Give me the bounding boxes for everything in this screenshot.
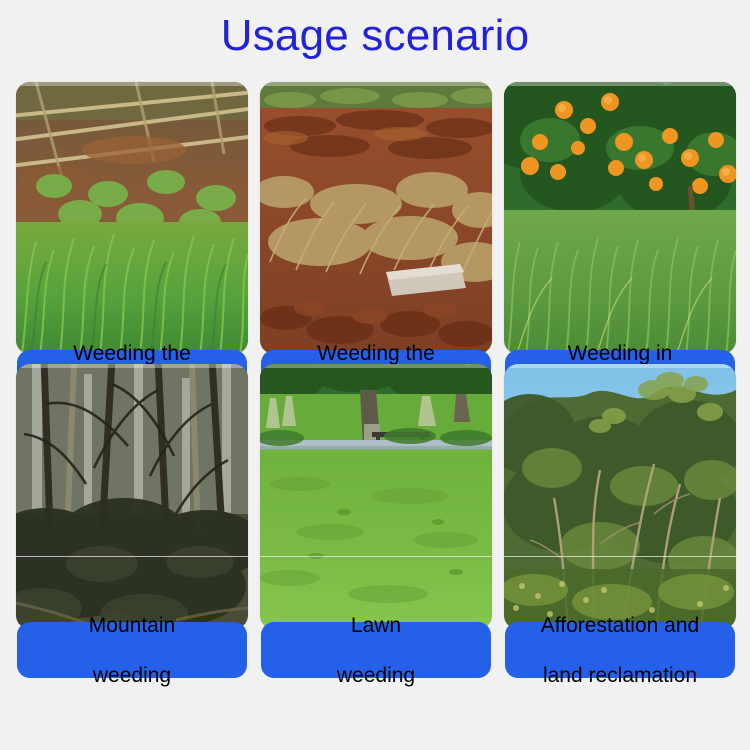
caption-line-1: Weeding the xyxy=(265,341,487,366)
photo-weeding-vegetable-garden xyxy=(16,82,248,354)
caption-line-2: land reclamation xyxy=(509,663,731,688)
scenario-cell-weeding-wasteland[interactable]: Weeding the wasteland xyxy=(260,82,492,354)
photo-weeding-orchard xyxy=(504,82,736,354)
scenario-row-top: Weeding the vegetable garden xyxy=(16,82,734,354)
caption-line-1: Weeding the xyxy=(21,341,243,366)
caption-line-1: Lawn xyxy=(265,613,487,638)
scenario-row-bottom: Mountain weeding xyxy=(16,364,734,629)
scenario-cell-lawn-weeding[interactable]: Lawn weeding xyxy=(260,364,492,629)
scenario-grid: Weeding the vegetable garden xyxy=(16,82,734,639)
scenario-cell-mountain-weeding[interactable]: Mountain weeding xyxy=(16,364,248,629)
usage-scenario-page: Usage scenario xyxy=(0,0,750,750)
caption-lawn-weeding[interactable]: Lawn weeding xyxy=(261,622,491,678)
caption-afforestation-land-reclamation[interactable]: Afforestation and land reclamation xyxy=(505,622,735,678)
photo-afforestation-land-reclamation xyxy=(504,364,736,629)
caption-line-1: Mountain xyxy=(21,613,243,638)
scenario-cell-weeding-orchard[interactable]: Weeding in the orchard xyxy=(504,82,736,354)
scenario-cell-weeding-vegetable-garden[interactable]: Weeding the vegetable garden xyxy=(16,82,248,354)
scenario-cell-afforestation-land-reclamation[interactable]: Afforestation and land reclamation xyxy=(504,364,736,629)
caption-line-2: weeding xyxy=(265,663,487,688)
caption-line-1: Afforestation and xyxy=(509,613,731,638)
photo-mountain-weeding xyxy=(16,364,248,629)
photo-weeding-wasteland xyxy=(260,82,492,354)
caption-line-1: Weeding in xyxy=(509,341,731,366)
caption-mountain-weeding[interactable]: Mountain weeding xyxy=(17,622,247,678)
photo-lawn-weeding xyxy=(260,364,492,629)
page-title: Usage scenario xyxy=(0,6,750,66)
caption-line-2: weeding xyxy=(21,663,243,688)
